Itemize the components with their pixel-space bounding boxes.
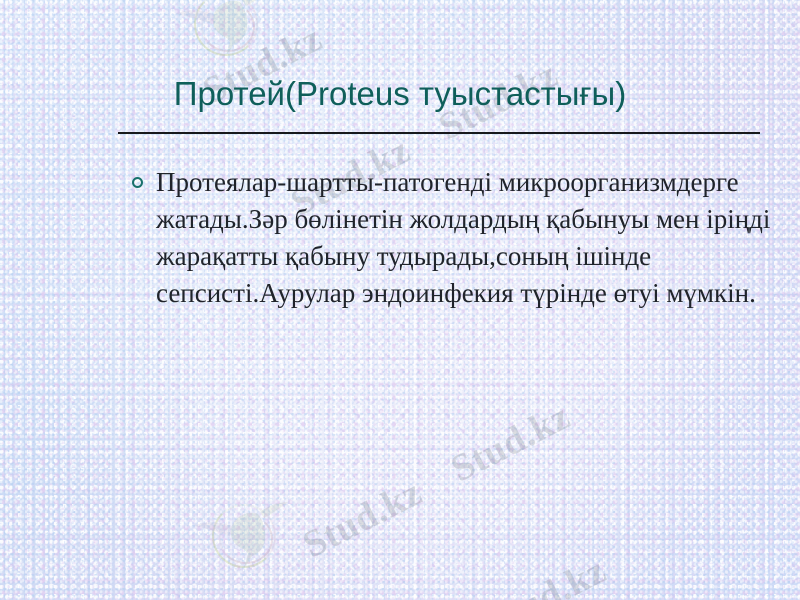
logo-ring-inner-bottom [219, 514, 273, 564]
logo-ring-outer [194, 0, 258, 56]
slide-canvas: Stud.kz Stud.kz Stud.kz Stud.kz Stud.kz … [0, 0, 800, 600]
title-divider [118, 132, 760, 134]
bullet-text: Протеялар-шартты-патогенді микроорганизм… [156, 164, 772, 312]
logo-ring-outer-bottom [212, 504, 276, 568]
hummingbird-logo-icon-bottom [186, 498, 296, 588]
hummingbird-logo-icon [168, 0, 278, 76]
list-item: Протеялар-шартты-патогенді микроорганизм… [132, 164, 772, 312]
hummingbird-glyph-bottom [186, 498, 296, 588]
logo-ring-inner [201, 2, 255, 52]
hummingbird-glyph [168, 0, 278, 76]
watermark-text: Stud.kz [444, 394, 577, 491]
watermark-text: Stud.kz [480, 548, 613, 600]
watermark-text: Stud.kz [296, 470, 429, 567]
slide-title: Протей(Proteus туыстастығы) [0, 74, 800, 114]
slide-body: Протеялар-шартты-патогенді микроорганизм… [132, 164, 772, 312]
hollow-circle-bullet-icon [132, 177, 143, 188]
